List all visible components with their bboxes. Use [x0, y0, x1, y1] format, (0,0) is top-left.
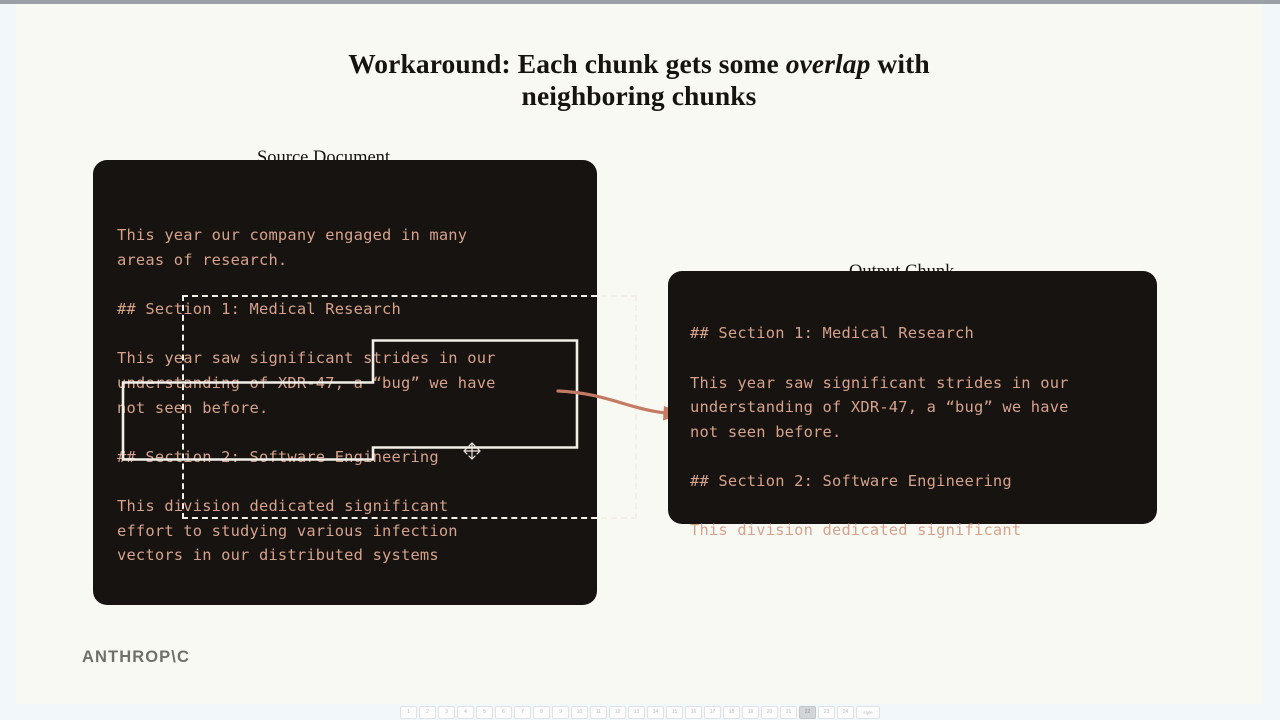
filmstrip-item-5[interactable]: 5 — [476, 706, 493, 719]
title-text-part-2: with — [870, 48, 929, 79]
application-window: Workaround: Each chunk gets some overlap… — [0, 0, 1280, 720]
filmstrip-item-13[interactable]: 13 — [628, 706, 645, 719]
filmstrip-item-8[interactable]: 8 — [533, 706, 550, 719]
filmstrip-item-6[interactable]: 6 — [495, 706, 512, 719]
filmstrip-item-11[interactable]: 11 — [590, 706, 607, 719]
filmstrip-item-2[interactable]: 2 — [419, 706, 436, 719]
filmstrip-item-23[interactable]: 23 — [818, 706, 835, 719]
filmstrip-item-7[interactable]: 7 — [514, 706, 531, 719]
filmstrip-item-24[interactable]: 24 — [837, 706, 854, 719]
filmstrip-item-18[interactable]: 18 — [723, 706, 740, 719]
page-title: Workaround: Each chunk gets some overlap… — [16, 48, 1262, 112]
source-document-code: This year our company engaged in many ar… — [117, 223, 496, 567]
output-chunk-panel[interactable]: ## Section 1: Medical Research This year… — [668, 271, 1157, 524]
filmstrip-item-19[interactable]: 19 — [742, 706, 759, 719]
filmstrip-item-16[interactable]: 16 — [685, 706, 702, 719]
filmstrip-item-4[interactable]: 4 — [457, 706, 474, 719]
filmstrip-item-20[interactable]: 20 — [761, 706, 778, 719]
title-emphasis-word: overlap — [786, 48, 871, 79]
filmstrip-item-3[interactable]: 3 — [438, 706, 455, 719]
filmstrip-item-9[interactable]: 9 — [552, 706, 569, 719]
output-chunk-code: ## Section 1: Medical Research This year… — [690, 321, 1069, 542]
filmstrip-item-15[interactable]: 15 — [666, 706, 683, 719]
right-gutter — [1262, 4, 1280, 720]
filmstrip-item-10[interactable]: 10 — [571, 706, 588, 719]
filmstrip-item-22[interactable]: 22 — [799, 706, 816, 719]
filmstrip-item-1[interactable]: 1 — [400, 706, 417, 719]
left-gutter — [0, 4, 16, 720]
slide-canvas[interactable]: Workaround: Each chunk gets some overlap… — [16, 4, 1262, 704]
title-text-part-1: Workaround: Each chunk gets some — [348, 48, 786, 79]
slide-filmstrip[interactable]: 123456789101112131415161718192021222324s… — [0, 704, 1280, 720]
title-line-two: neighboring chunks — [522, 80, 757, 111]
filmstrip-item-21[interactable]: 21 — [780, 706, 797, 719]
filmstrip-item-style[interactable]: style — [856, 706, 880, 719]
filmstrip-item-17[interactable]: 17 — [704, 706, 721, 719]
anthropic-wordmark: ANTHROP\C — [82, 648, 190, 667]
source-document-panel[interactable]: This year our company engaged in many ar… — [93, 160, 597, 605]
filmstrip-item-14[interactable]: 14 — [647, 706, 664, 719]
filmstrip-item-12[interactable]: 12 — [609, 706, 626, 719]
